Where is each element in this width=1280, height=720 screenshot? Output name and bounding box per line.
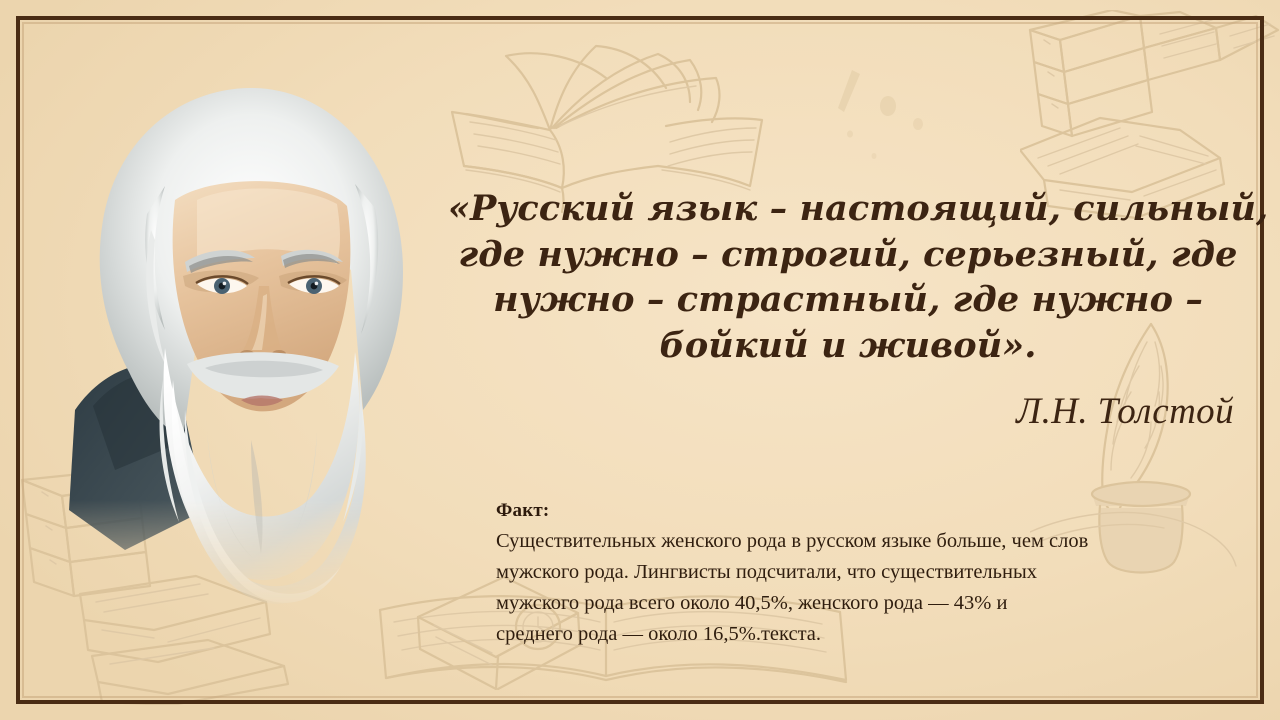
fact-line: мужского рода. Лингвисты подсчитали, что… bbox=[496, 557, 1248, 588]
quote-line: где нужно – строгий, серьезный, где bbox=[448, 232, 1248, 278]
fact-block: Факт: Существительных женского рода в ру… bbox=[496, 500, 1248, 651]
quote-line: бойкий и живой». bbox=[448, 323, 1248, 369]
slide-canvas: «Русский язык – настоящий, сильный, где … bbox=[0, 0, 1280, 720]
fact-title: Факт: bbox=[496, 500, 1248, 522]
tolstoy-portrait bbox=[55, 80, 445, 625]
quote-line: нужно – страстный, где нужно – bbox=[448, 277, 1248, 323]
quote-text: «Русский язык – настоящий, сильный, где … bbox=[448, 186, 1248, 368]
fact-line: Существительных женского рода в русском … bbox=[496, 526, 1248, 557]
fact-line: среднего рода — около 16,5%.текста. bbox=[496, 619, 1248, 650]
fact-body: Существительных женского рода в русском … bbox=[496, 526, 1248, 651]
quote-block: «Русский язык – настоящий, сильный, где … bbox=[448, 186, 1248, 433]
quote-author: Л.Н. Толстой bbox=[448, 390, 1248, 433]
quote-line: «Русский язык – настоящий, сильный, bbox=[448, 186, 1248, 232]
fact-line: мужского рода всего около 40,5%, женског… bbox=[496, 588, 1248, 619]
